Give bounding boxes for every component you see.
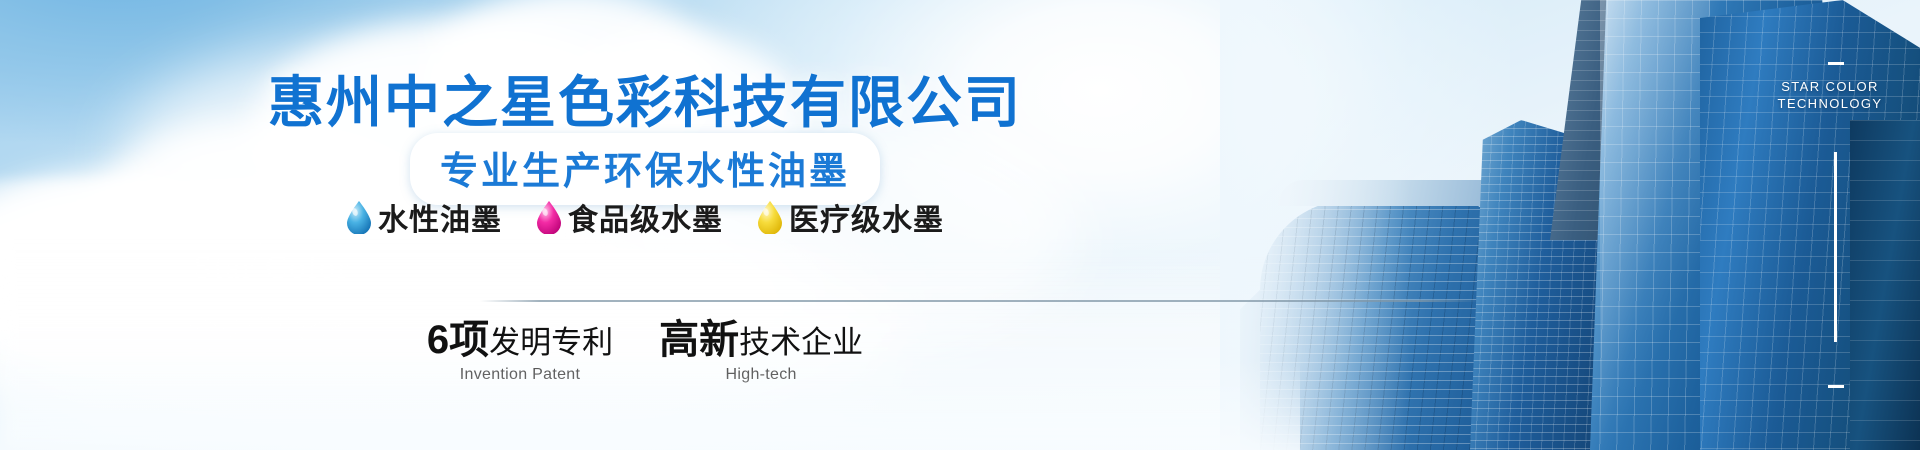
feature-item-water-ink: 水性油墨	[346, 195, 502, 239]
building-brand-label: STAR COLOR TECHNOLOGY	[1750, 78, 1910, 112]
company-hero-banner: Star Color STAR COLOR TECHNOLOGY 惠州中之星色彩…	[0, 0, 1920, 450]
credential-cn: 高新技术企业	[659, 320, 863, 363]
credentials-list: 6项发明专利 Invention Patent 高新技术企业 High-tech	[0, 320, 1290, 384]
feature-item-medical-grade-ink: 医疗级水墨	[757, 195, 944, 239]
banner-content: 惠州中之星色彩科技有限公司 专业生产环保水性油墨 水性油墨	[0, 0, 1290, 450]
feature-label: 医疗级水墨	[789, 195, 944, 239]
skyscraper-photo: STAR COLOR TECHNOLOGY	[1220, 0, 1920, 450]
feature-label: 食品级水墨	[568, 195, 723, 239]
credential-cn-rest: 发明专利	[489, 325, 613, 360]
water-drop-icon	[757, 200, 783, 234]
feature-item-food-grade-ink: 食品级水墨	[536, 195, 723, 239]
credential-item-invention-patent: 6项发明专利 Invention Patent	[427, 320, 613, 384]
water-drop-icon	[346, 200, 372, 234]
credential-cn-rest: 技术企业	[739, 325, 863, 360]
label-tick-top	[1828, 62, 1844, 65]
building-brand-line2: TECHNOLOGY	[1750, 95, 1910, 112]
building-glass-sheen	[1600, 0, 1710, 450]
building-curved-tower-cap	[1278, 180, 1508, 206]
credential-en: High-tech	[659, 366, 863, 384]
section-divider	[480, 300, 1480, 302]
credential-item-high-tech: 高新技术企业 High-tech	[659, 320, 863, 384]
page-title: 惠州中之星色彩科技有限公司	[0, 58, 1290, 139]
building-brand-line1: STAR COLOR	[1750, 78, 1910, 95]
feature-list: 水性油墨 食品级水墨	[0, 195, 1290, 239]
label-tick-line	[1834, 152, 1837, 342]
credential-cn-strong: 6项	[427, 318, 489, 362]
credential-cn-strong: 高新	[659, 318, 739, 362]
credential-en: Invention Patent	[427, 366, 613, 384]
building-edge-panel	[1850, 120, 1920, 450]
credential-cn: 6项发明专利	[427, 320, 613, 363]
label-tick-bottom	[1828, 385, 1844, 388]
water-drop-icon	[536, 200, 562, 234]
feature-label: 水性油墨	[378, 195, 502, 239]
